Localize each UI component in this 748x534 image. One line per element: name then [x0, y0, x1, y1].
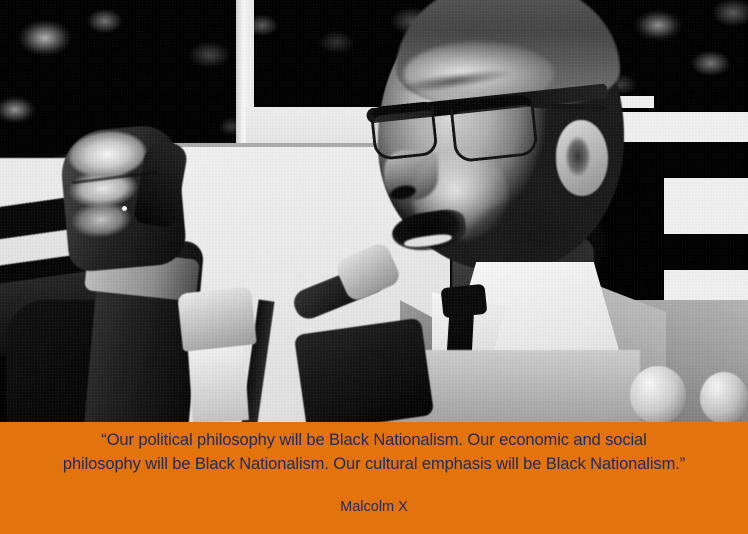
sign-letter-stroke-top: [620, 96, 654, 108]
necktie-knot: [441, 284, 488, 318]
finger-ring: [122, 206, 127, 211]
glasses-lens-right: [449, 94, 539, 163]
microphone-head-right-b: [700, 372, 748, 422]
caption-bar: “Our political philosophy will be Black …: [0, 422, 748, 534]
speaker-ear: [556, 120, 608, 196]
quote-line-2: philosophy will be Black Nationalism. Ou…: [18, 452, 730, 476]
quote-attribution: Malcolm X: [0, 476, 748, 516]
glasses-lens-left: [369, 101, 438, 161]
malcolm-x-photograph: [0, 0, 748, 422]
sign-letter-stroke-middle: [664, 178, 748, 234]
microphone-head-right-a: [630, 366, 686, 422]
quote-text: “Our political philosophy will be Black …: [0, 422, 748, 476]
quote-line-1: “Our political philosophy will be Black …: [18, 428, 730, 452]
microphone-dark-body: [294, 318, 434, 422]
microphone-block-left: [177, 286, 257, 351]
sign-letter-stroke-upper: [614, 112, 748, 142]
quote-poster: “Our political philosophy will be Black …: [0, 0, 748, 534]
sign-letter-stroke-lower: [664, 270, 748, 304]
